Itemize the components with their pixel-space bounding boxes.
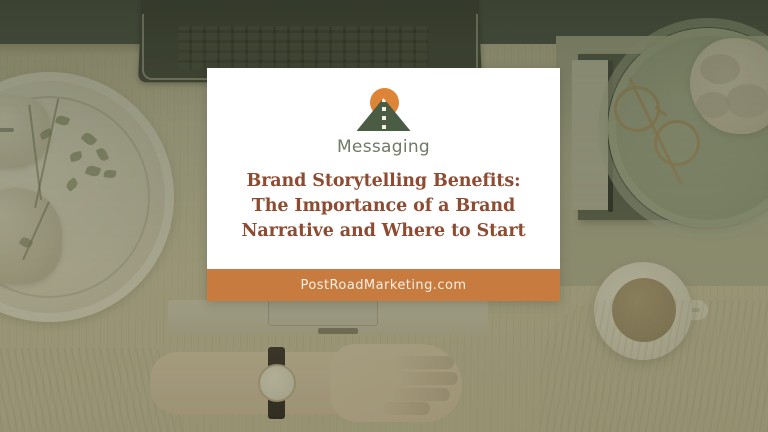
headline-line-3: Narrative and Where to Start (241, 219, 525, 244)
category-label: Messaging (337, 139, 430, 156)
card-body: Messaging Brand Storytelling Benefits: T… (207, 68, 560, 269)
website-url: PostRoadMarketing.com (301, 278, 467, 293)
road-dashed-lane-icon (357, 98, 411, 131)
card-footer-bar: PostRoadMarketing.com (207, 269, 560, 301)
headline-line-2: The Importance of a Brand (241, 194, 525, 219)
sun-road-logo-icon (357, 88, 411, 134)
featured-image-canvas: Messaging Brand Storytelling Benefits: T… (0, 0, 768, 432)
page-title: Brand Storytelling Benefits: The Importa… (241, 169, 525, 244)
content-card: Messaging Brand Storytelling Benefits: T… (207, 68, 560, 301)
headline-line-1: Brand Storytelling Benefits: (241, 169, 525, 194)
